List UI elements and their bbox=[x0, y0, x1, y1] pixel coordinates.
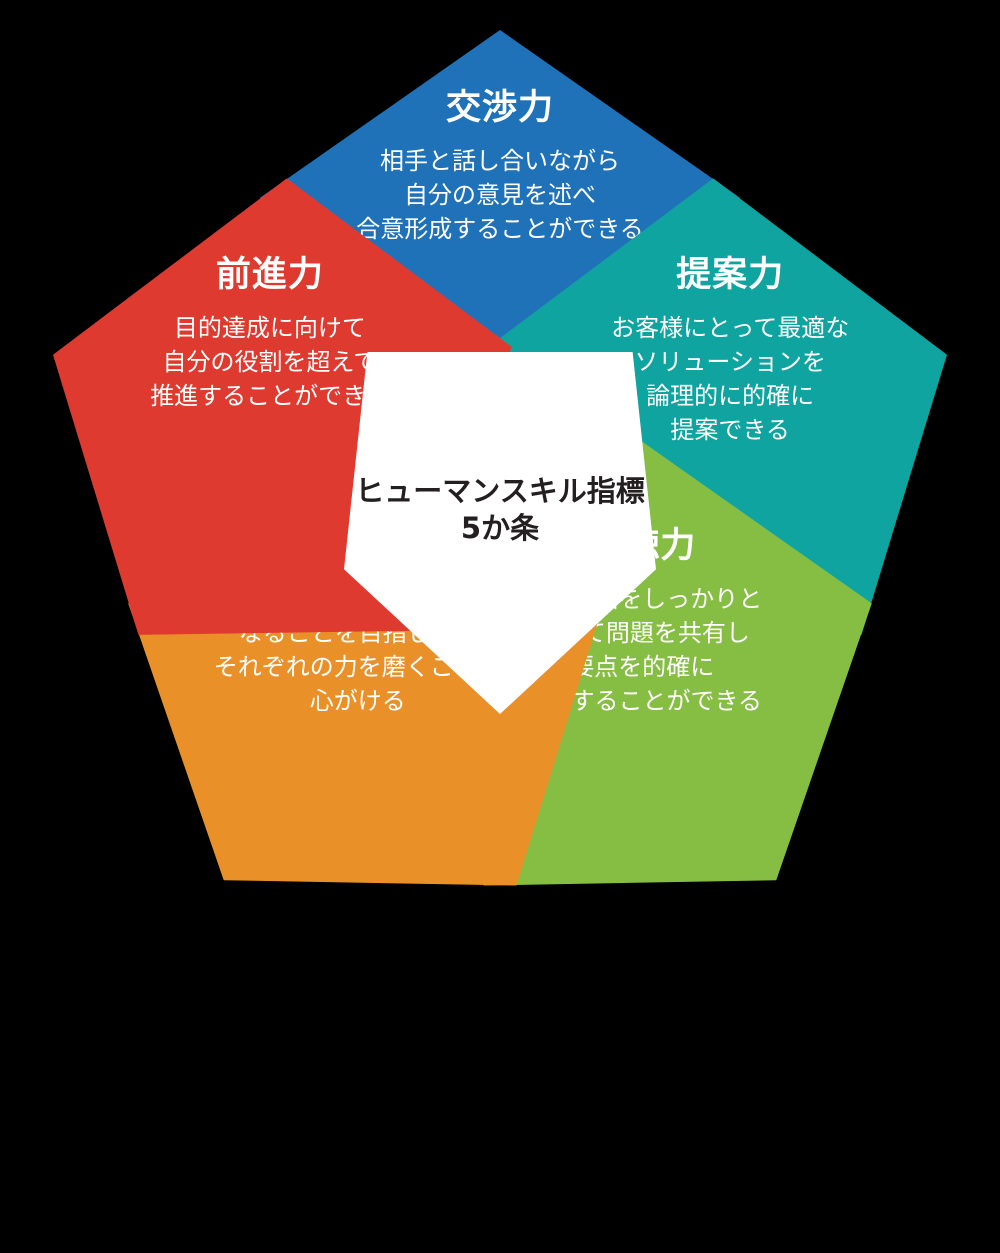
center-label: ヒューマンスキル指標 5か条 bbox=[355, 473, 644, 593]
pentagon-radial-diagram: 交渉力 相手と話し合いながら 自分の意見を述べ 合意形成することができる 提案力… bbox=[0, 0, 1000, 953]
center-label-line1: ヒューマンスキル指標 bbox=[355, 473, 644, 510]
center-label-line2: 5か条 bbox=[355, 510, 644, 547]
